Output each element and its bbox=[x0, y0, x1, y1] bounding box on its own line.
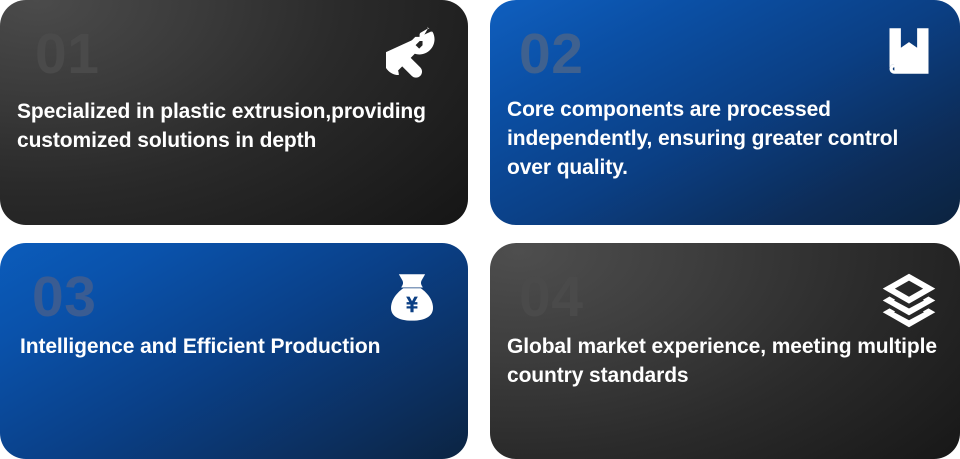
feature-card-grid: 01 Specialized in plastic extrusion,prov… bbox=[0, 0, 960, 459]
feature-card-02[interactable]: 02 Core components are processed indepen… bbox=[490, 0, 960, 225]
book-bookmark-icon bbox=[883, 25, 935, 77]
card-number-04: 04 bbox=[519, 269, 938, 326]
money-bag-yen-icon bbox=[384, 269, 440, 325]
card-text-03: Intelligence and Efficient Production bbox=[20, 332, 446, 361]
card-text-01: Specialized in plastic extrusion,providi… bbox=[17, 97, 446, 155]
card-number-01: 01 bbox=[35, 26, 446, 83]
feature-card-01[interactable]: 01 Specialized in plastic extrusion,prov… bbox=[0, 0, 468, 225]
card-text-02: Core components are processed independen… bbox=[507, 95, 938, 182]
card-number-02: 02 bbox=[519, 26, 938, 83]
card-text-04: Global market experience, meeting multip… bbox=[507, 332, 937, 390]
layers-stack-icon bbox=[880, 271, 938, 329]
wrench-icon bbox=[386, 24, 440, 78]
feature-card-04[interactable]: 04 Global market experience, meeting mul… bbox=[490, 243, 960, 459]
feature-card-03[interactable]: 03 Intelligence and Efficient Production bbox=[0, 243, 468, 459]
